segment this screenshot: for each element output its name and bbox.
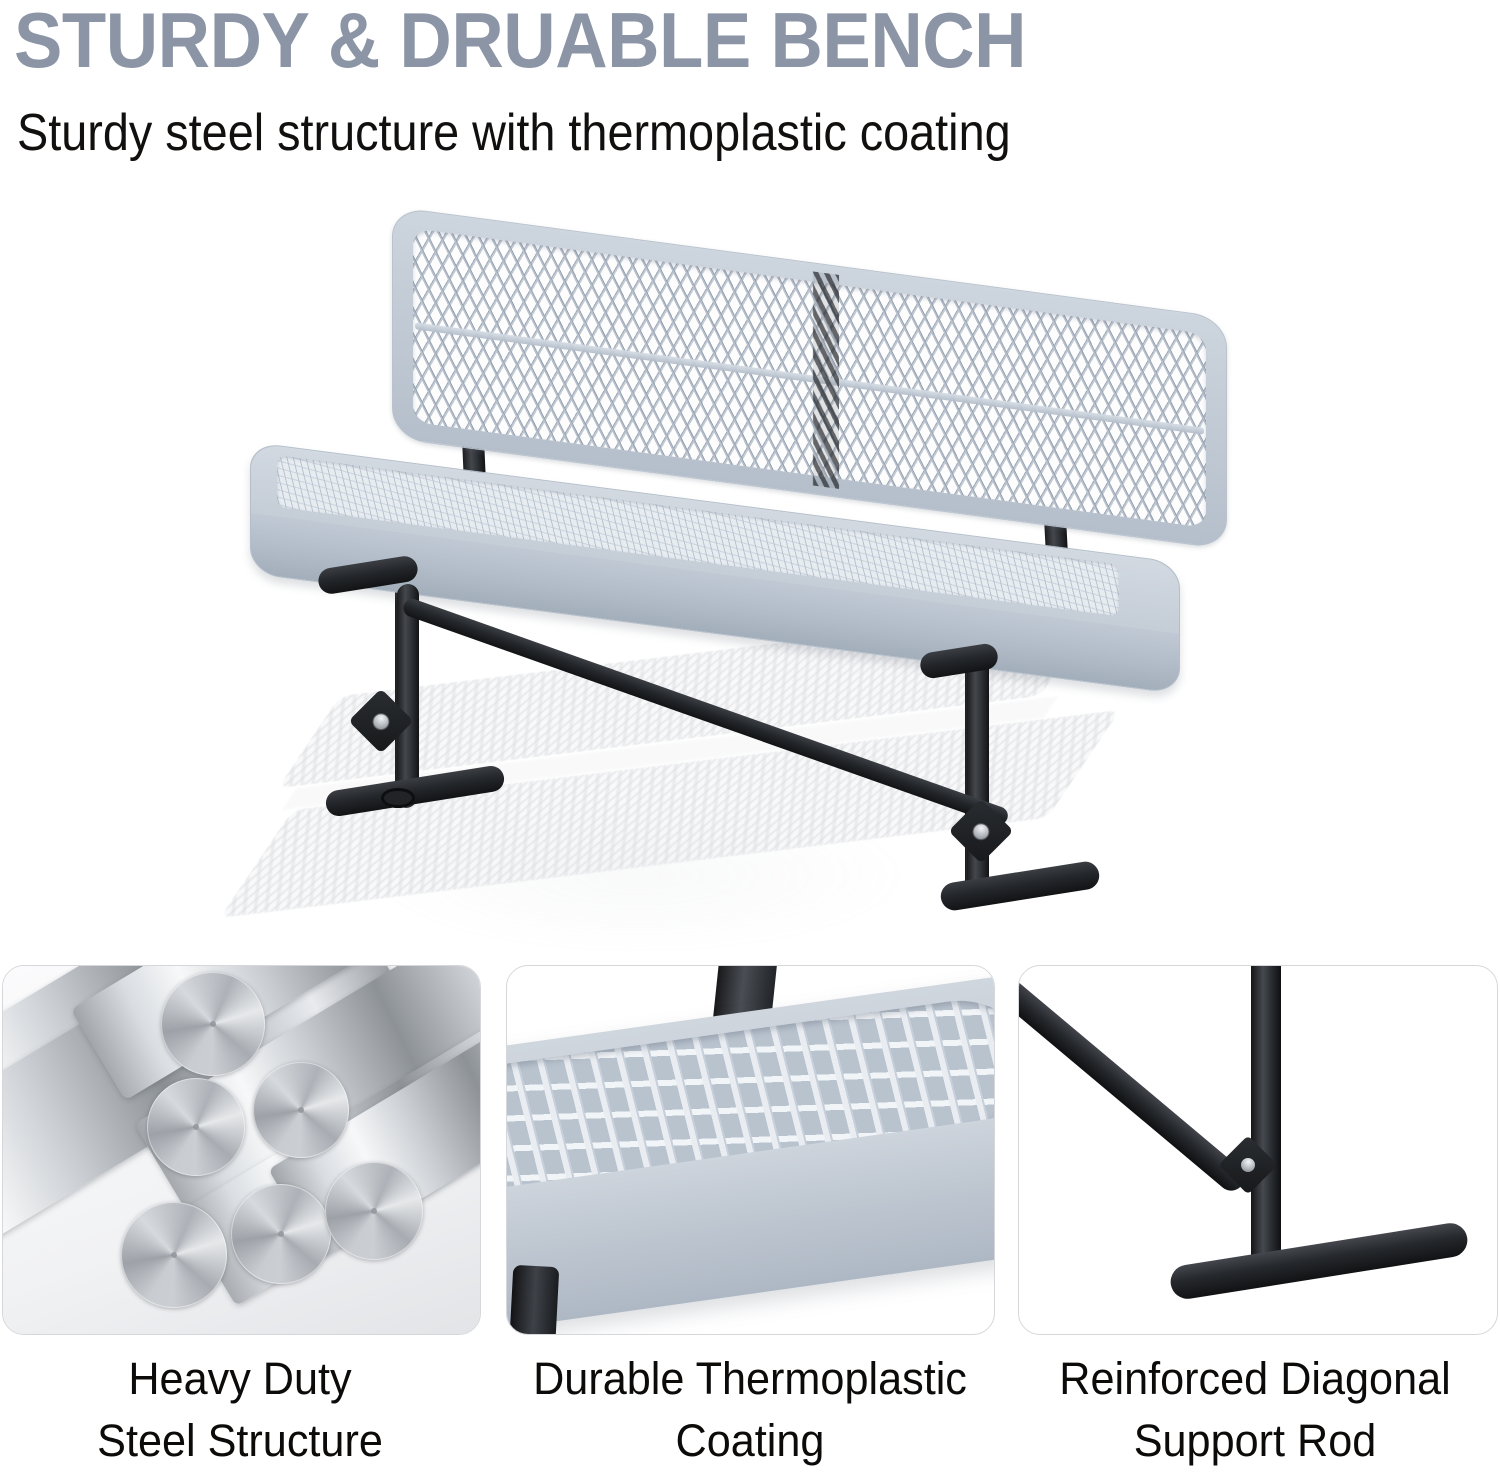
closeup-leg-lower [509, 1265, 560, 1335]
caption-support-rod: Reinforced Diagonal Support Rod [1020, 1348, 1490, 1472]
ground-shadow [300, 650, 1260, 950]
caption-line-1: Reinforced Diagonal [1020, 1348, 1490, 1410]
closeup-diagonal-rod [1018, 965, 1249, 1196]
page-subtitle: Sturdy steel structure with thermoplasti… [17, 104, 1322, 162]
bar-end-face [253, 1062, 349, 1158]
backrest-post-shadow [813, 271, 839, 488]
left-foot-anchor-plate [381, 788, 415, 808]
caption-line-1: Durable Thermoplastic [510, 1348, 990, 1410]
bar-end-face [121, 1202, 227, 1308]
caption-steel-structure: Heavy Duty Steel Structure [10, 1348, 471, 1472]
closeup-vertical-leg [1251, 965, 1281, 1268]
closeup-seat-edge [506, 965, 995, 1335]
bar-end-face [161, 972, 265, 1076]
caption-line-2: Coating [510, 1410, 990, 1472]
bar-end-face [231, 1184, 331, 1284]
closeup-t-foot [1168, 1221, 1470, 1302]
hero-product-image [0, 180, 1500, 960]
caption-line-2: Support Rod [1020, 1410, 1490, 1472]
steel-bars-photo [3, 966, 480, 1334]
feature-panel-thermoplastic-coating[interactable] [506, 965, 995, 1335]
caption-line-2: Steel Structure [10, 1410, 471, 1472]
right-leg [967, 650, 989, 900]
caption-line-1: Heavy Duty [10, 1348, 471, 1410]
bar-end-face [325, 1162, 423, 1260]
feature-panel-row [0, 965, 1500, 1337]
feature-panel-support-rod[interactable] [1018, 965, 1498, 1335]
feature-captions: Heavy Duty Steel Structure Durable Therm… [0, 1348, 1500, 1481]
page-title: STURDY & DRUABLE BENCH [14, 0, 1335, 82]
right-foot [939, 860, 1101, 913]
caption-thermoplastic-coating: Durable Thermoplastic Coating [510, 1348, 990, 1472]
feature-panel-steel-structure[interactable] [2, 965, 481, 1335]
bar-end-face [147, 1078, 245, 1176]
